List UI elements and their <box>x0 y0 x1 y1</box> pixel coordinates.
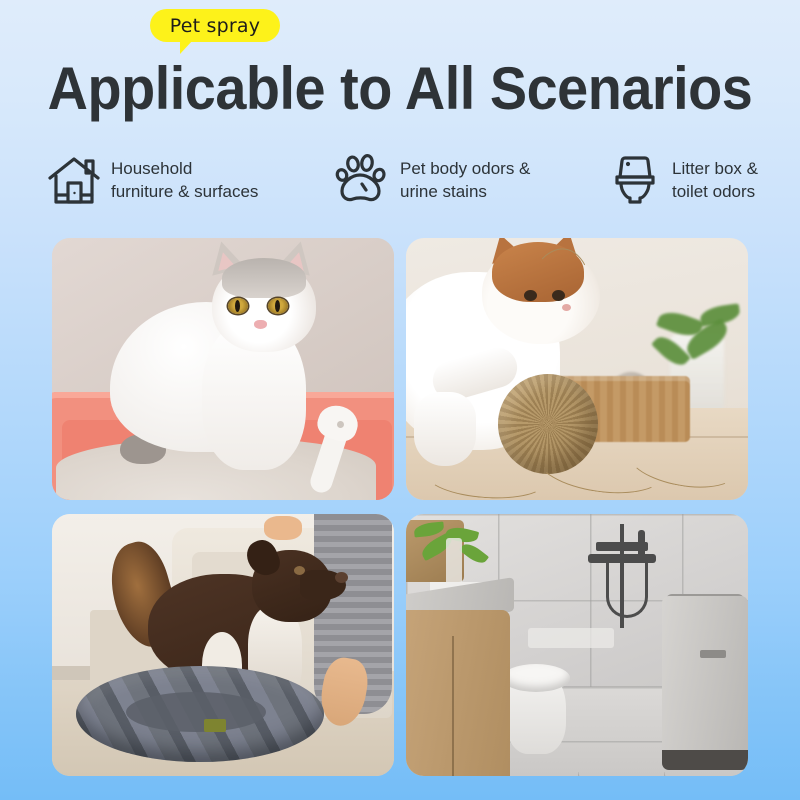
vanity-cabinet <box>406 610 510 776</box>
pet-bed-center <box>126 692 266 732</box>
feature-label-litter-box: Litter box & toilet odors <box>672 157 758 203</box>
feature-line-1: Pet body odors & <box>400 159 530 178</box>
person-hand <box>264 516 302 540</box>
plant-leaf <box>699 303 741 326</box>
dog-nose <box>335 572 348 583</box>
cat-hind-leg <box>414 392 476 466</box>
feature-line-2: urine stains <box>400 180 530 203</box>
house-icon <box>46 152 102 208</box>
photo-cat-with-yarn-ball <box>406 238 748 500</box>
badge-tail <box>180 40 193 54</box>
cat-head-markings <box>222 258 306 298</box>
page-title: Applicable to All Scenarios <box>28 58 772 120</box>
cat-pupil-left <box>235 300 240 312</box>
feature-label-household: Household furniture & surfaces <box>111 157 258 203</box>
feature-line-1: Household <box>111 159 192 178</box>
washing-machine-handle <box>700 650 726 658</box>
feature-item-litter-box: Litter box & toilet odors <box>607 152 758 208</box>
photo-cat-in-litter-box <box>52 238 394 500</box>
pet-spray-badge: Pet spray <box>150 9 280 53</box>
washing-machine <box>662 596 748 754</box>
toilet-seat <box>502 664 570 692</box>
paw-print-icon <box>335 152 391 208</box>
feature-label-pet-odors: Pet body odors & urine stains <box>400 157 530 203</box>
photo-modern-bathroom <box>406 514 748 776</box>
feature-item-household: Household furniture & surfaces <box>46 152 258 208</box>
washing-machine-base <box>662 750 748 770</box>
litter-scoop-hole <box>337 421 344 428</box>
feature-item-pet-odors: Pet body odors & urine stains <box>335 152 530 208</box>
badge-pill: Pet spray <box>150 9 280 42</box>
wall-ledge <box>528 628 614 648</box>
toilet-icon <box>607 152 663 208</box>
feature-line-2: toilet odors <box>672 180 758 203</box>
photo-dog-on-pet-bed <box>52 514 394 776</box>
hand-shower <box>638 530 645 560</box>
feature-line-2: furniture & surfaces <box>111 180 258 203</box>
feature-line-1: Litter box & <box>672 159 758 178</box>
vanity-door-seam <box>452 636 454 776</box>
scenario-photo-grid <box>52 238 748 776</box>
cat-pupil-right <box>275 300 280 312</box>
cat-nose <box>254 320 267 329</box>
feature-list: Household furniture & surfaces Pet body … <box>46 152 758 208</box>
dog-eye <box>294 566 305 575</box>
pet-bed-tag <box>204 719 226 732</box>
badge-label: Pet spray <box>170 15 260 37</box>
shower-hose <box>606 562 648 618</box>
